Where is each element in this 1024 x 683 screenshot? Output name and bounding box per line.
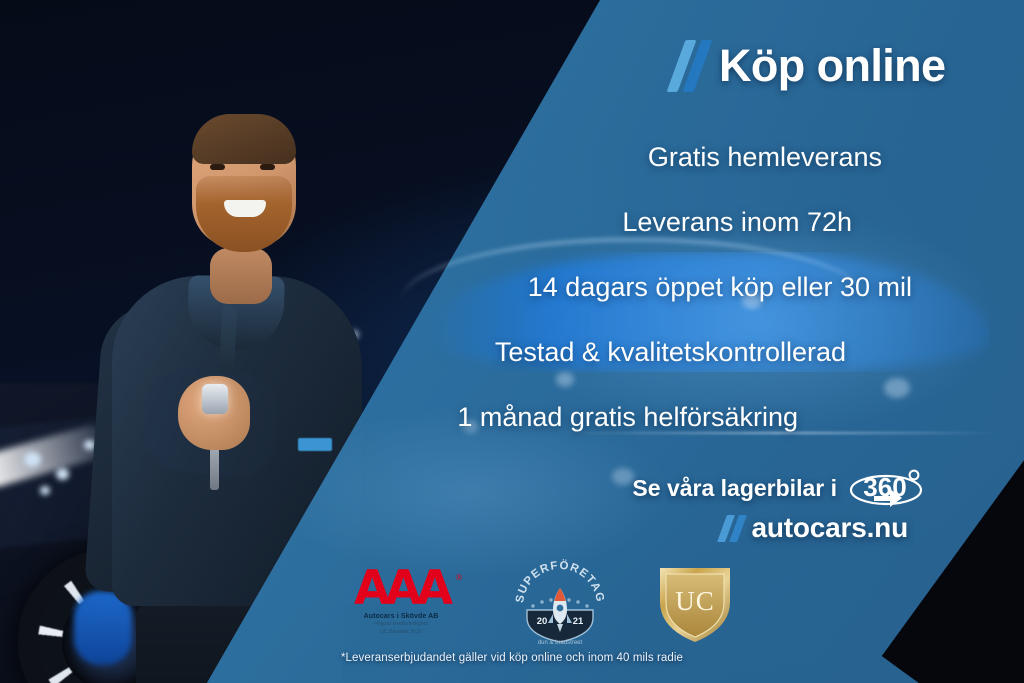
svg-text:360: 360 [863, 472, 906, 502]
uc-shield-logo: UC [654, 560, 736, 644]
certification-logos: AAA ® Autocars i Skövde AB Högsta kredit… [336, 556, 736, 648]
svg-text:21: 21 [573, 616, 584, 627]
website-url[interactable]: autocars.nu [751, 512, 908, 544]
benefits-list: Gratis hemleverans Leverans inom 72h 14 … [0, 142, 1010, 467]
registered-mark: ® [456, 573, 462, 582]
benefit-item: Gratis hemleverans [648, 142, 882, 173]
aaa-credit-logo: AAA ® Autocars i Skövde AB Högsta kredit… [336, 567, 466, 636]
cta-lead-text: Se våra lagerbilar i [632, 475, 837, 502]
benefit-item: Leverans inom 72h [622, 207, 852, 238]
advertisement-banner: Köp online Gratis hemleverans Leverans i… [0, 0, 1024, 683]
benefit-item: 1 månad gratis helförsäkring [457, 402, 798, 433]
cta-block[interactable]: Se våra lagerbilar i 360 autocars.nu [0, 466, 924, 544]
ad-content: Köp online Gratis hemleverans Leverans i… [0, 0, 1024, 683]
svg-text:20: 20 [537, 616, 548, 627]
cta-lead-row: Se våra lagerbilar i 360 [632, 466, 924, 510]
360-badge-icon: 360 [848, 466, 924, 510]
aaa-note: Högsta kreditvärdighetUC Bisnode 2021 [336, 621, 466, 637]
headline-block: Köp online [676, 40, 945, 92]
superforetag-badge: SUPERFÖRETAG 20 21 [513, 558, 607, 646]
superforetag-source: dun & bradstreet [538, 640, 583, 646]
uc-label: UC [675, 586, 715, 616]
double-slash-icon [667, 40, 713, 92]
disclaimer-text: *Leveranserbjudandet gäller vid köp onli… [0, 652, 1024, 664]
benefit-item: Testad & kvalitetskontrollerad [495, 337, 846, 368]
cta-url-row[interactable]: autocars.nu [722, 512, 908, 544]
page-title: Köp online [719, 40, 945, 92]
double-slash-icon [718, 515, 748, 542]
aaa-letters: AAA [336, 567, 466, 612]
benefit-item: 14 dagars öppet köp eller 30 mil [528, 272, 912, 303]
